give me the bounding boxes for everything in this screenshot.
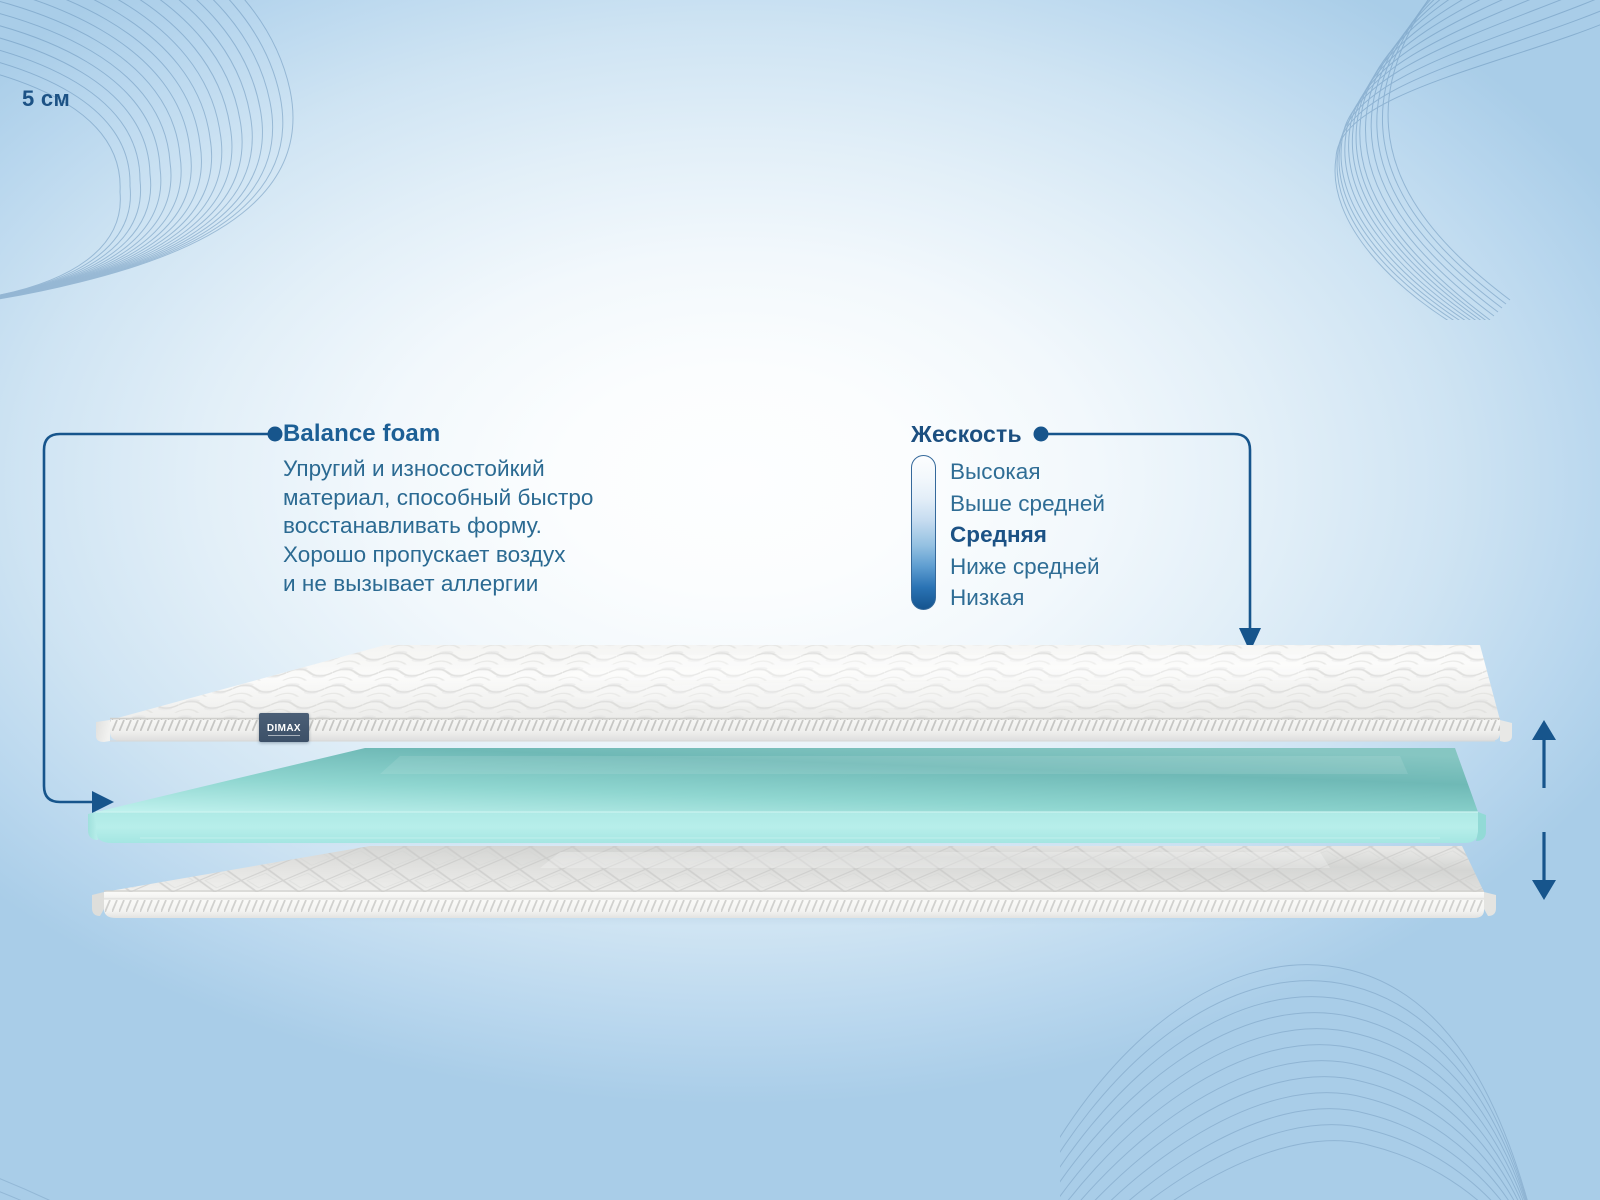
balance-foam-description: Упругий и износостойкий материал, способ… xyxy=(283,455,683,599)
mattress-layer-base-cover xyxy=(92,846,1496,918)
dimax-brand-tag: DIMAX xyxy=(259,713,309,742)
balance-foam-info-block: Balance foam Упругий и износостойкий мат… xyxy=(283,419,683,599)
mattress-layers-illustration xyxy=(0,600,1600,960)
hardness-level-medium: Средняя xyxy=(950,519,1105,551)
hardness-level-below-medium: Ниже средней xyxy=(950,551,1105,583)
hardness-gradient-bar xyxy=(911,455,936,610)
mattress-layer-balance-foam xyxy=(88,748,1486,843)
hardness-level-list: Высокая Выше средней Средняя Ниже средне… xyxy=(950,455,1105,614)
thickness-label: 5 см xyxy=(0,86,92,112)
decorative-lines-top-right xyxy=(1300,0,1600,320)
decorative-lines-top-left xyxy=(0,0,380,330)
balance-foam-title: Balance foam xyxy=(283,419,683,449)
hardness-info-block: Жескость Высокая Выше средней Средняя Ни… xyxy=(911,419,1105,614)
decorative-lines-bottom-left xyxy=(0,1020,410,1200)
dimax-tag-underline xyxy=(268,735,300,736)
dimax-tag-label: DIMAX xyxy=(267,722,301,734)
hardness-title: Жескость xyxy=(911,419,1105,449)
hardness-level-high: Высокая xyxy=(950,456,1105,488)
thickness-dimension-indicator xyxy=(1498,710,1600,910)
infographic-canvas: Balance foam Упругий и износостойкий мат… xyxy=(0,0,1600,1200)
hardness-scale: Высокая Выше средней Средняя Ниже средне… xyxy=(911,455,1105,614)
hardness-level-above-medium: Выше средней xyxy=(950,488,1105,520)
